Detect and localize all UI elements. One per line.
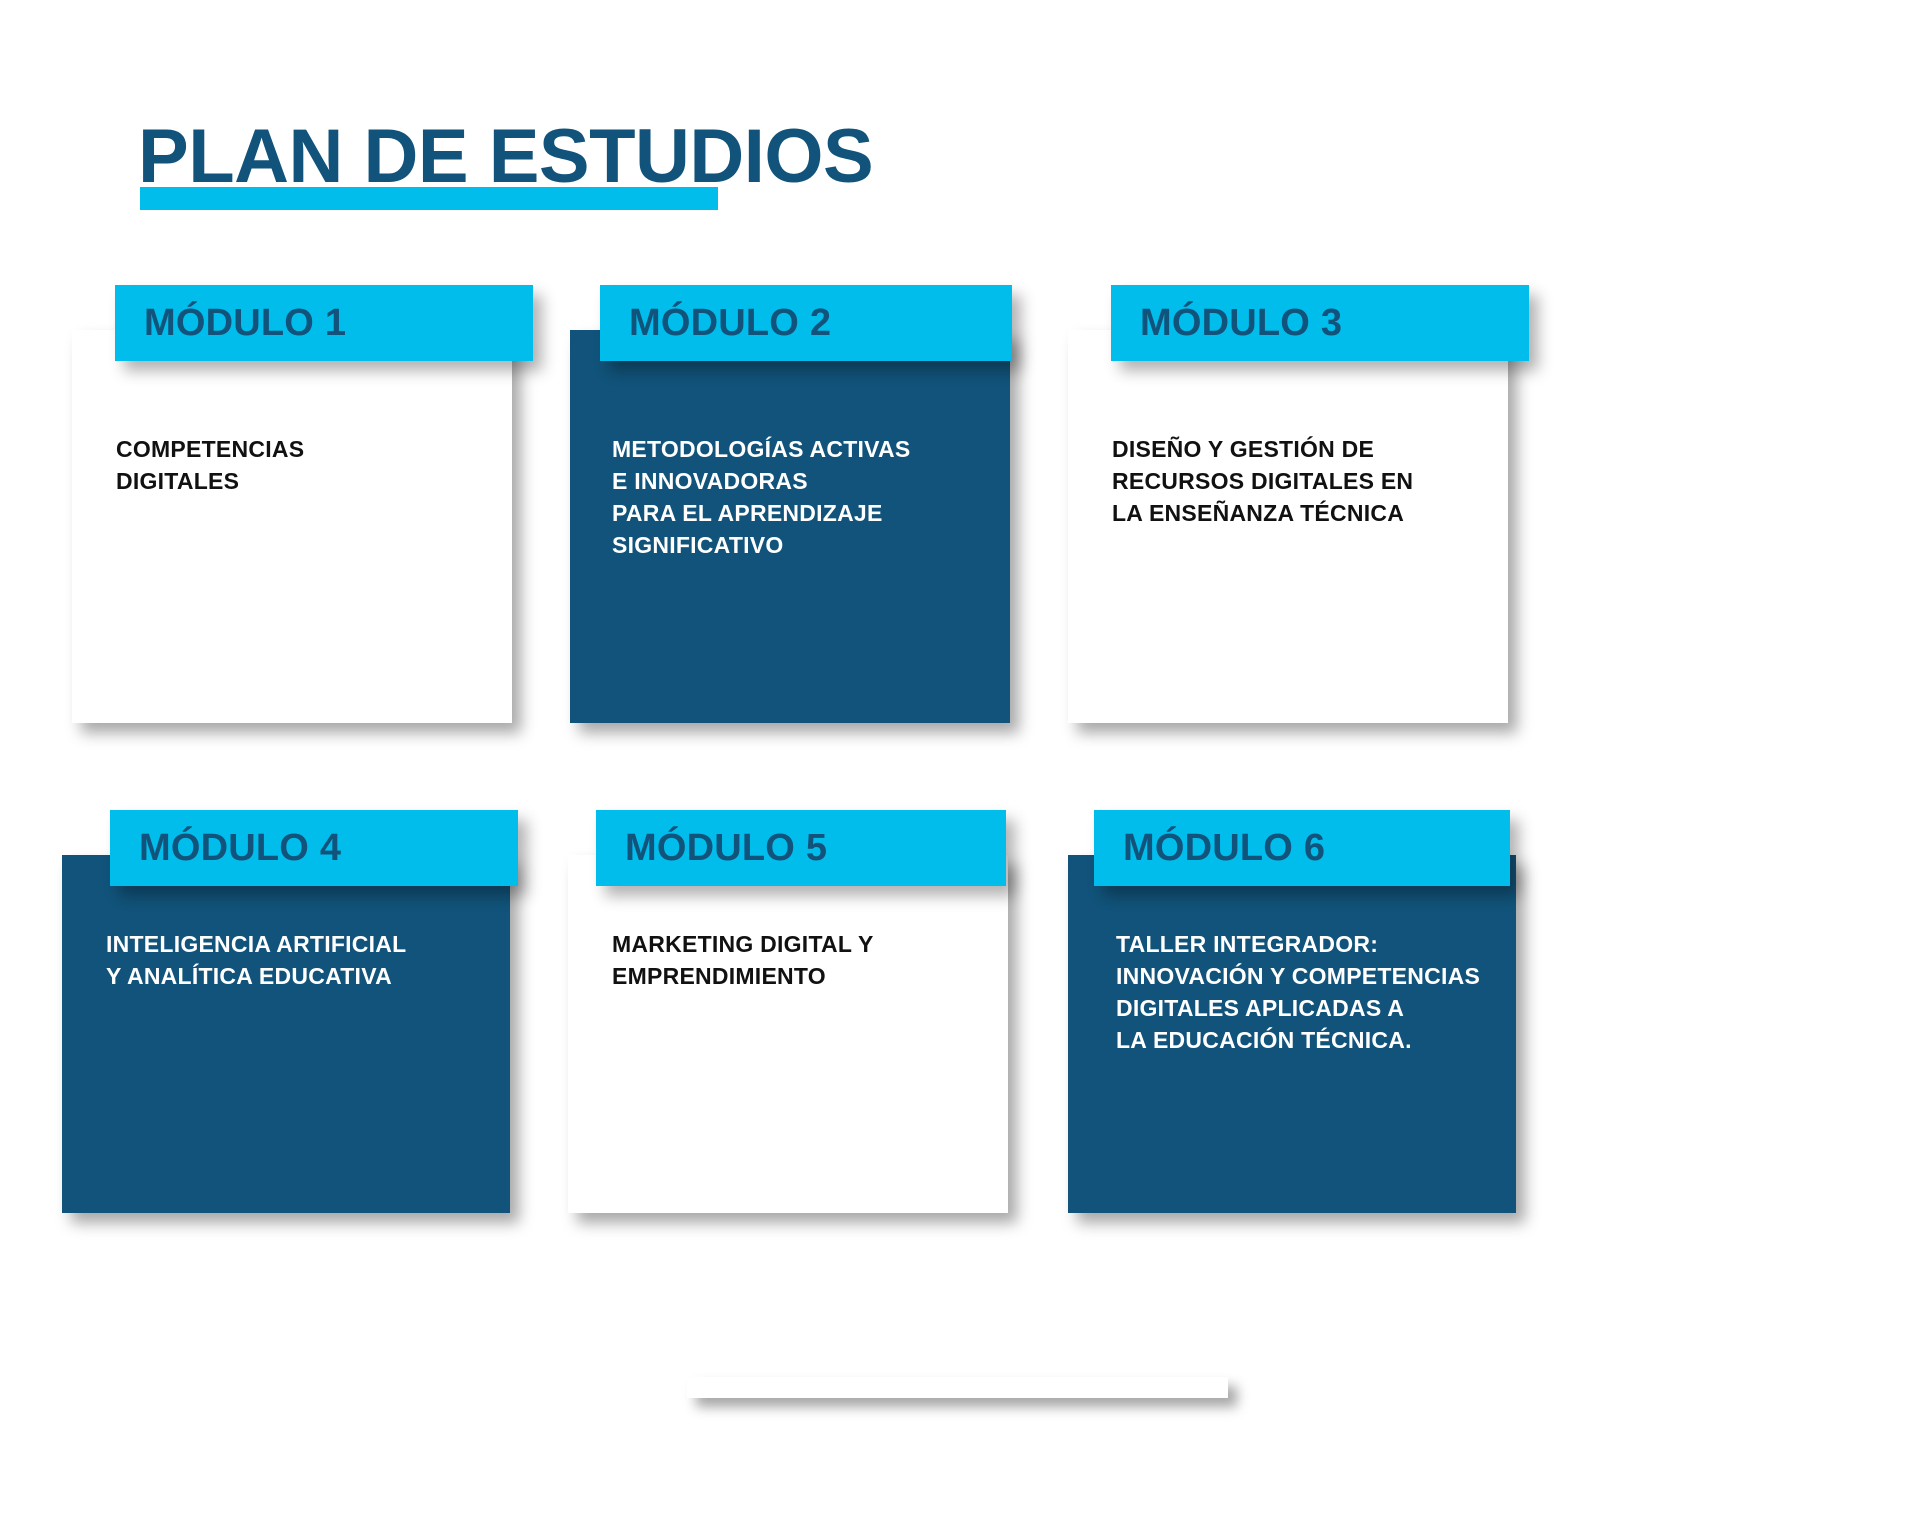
module-card-4-body — [62, 855, 510, 1213]
module-card-5-badge-label: MÓDULO 5 — [625, 826, 827, 870]
module-card-4-title: INTELIGENCIA ARTIFICIAL Y ANALÍTICA EDUC… — [106, 928, 556, 992]
module-card-3-badge-label: MÓDULO 3 — [1140, 301, 1342, 345]
bottom-strip-decoration — [687, 1377, 1228, 1398]
slide-canvas: PLAN DE ESTUDIOS MÓDULO 1 COMPETENCIAS D… — [0, 0, 1920, 1538]
module-card-5-title: MARKETING DIGITAL Y EMPRENDIMIENTO — [612, 928, 1002, 992]
module-card-2-badge[interactable]: MÓDULO 2 — [600, 285, 1012, 361]
module-card-1-body — [72, 330, 512, 723]
module-card-4-badge[interactable]: MÓDULO 4 — [110, 810, 518, 886]
module-card-6-title: TALLER INTEGRADOR: INNOVACIÓN Y COMPETEN… — [1116, 928, 1516, 1056]
module-card-5-badge[interactable]: MÓDULO 5 — [596, 810, 1006, 886]
module-card-5-body — [568, 855, 1008, 1213]
module-card-3-title: DISEÑO Y GESTIÓN DE RECURSOS DIGITALES E… — [1112, 433, 1507, 529]
module-card-2-badge-label: MÓDULO 2 — [629, 301, 831, 345]
module-card-3-badge[interactable]: MÓDULO 3 — [1111, 285, 1529, 361]
module-card-1-badge[interactable]: MÓDULO 1 — [115, 285, 533, 361]
module-card-1-badge-label: MÓDULO 1 — [144, 301, 346, 345]
module-card-2-title: METODOLOGÍAS ACTIVAS E INNOVADORAS PARA … — [612, 433, 1002, 561]
module-card-6-badge-label: MÓDULO 6 — [1123, 826, 1325, 870]
module-card-4-badge-label: MÓDULO 4 — [139, 826, 341, 870]
module-card-6-badge[interactable]: MÓDULO 6 — [1094, 810, 1510, 886]
module-grid: MÓDULO 1 COMPETENCIAS DIGITALES MÓDULO 2… — [0, 0, 1920, 1538]
module-card-1-title: COMPETENCIAS DIGITALES — [116, 433, 506, 497]
